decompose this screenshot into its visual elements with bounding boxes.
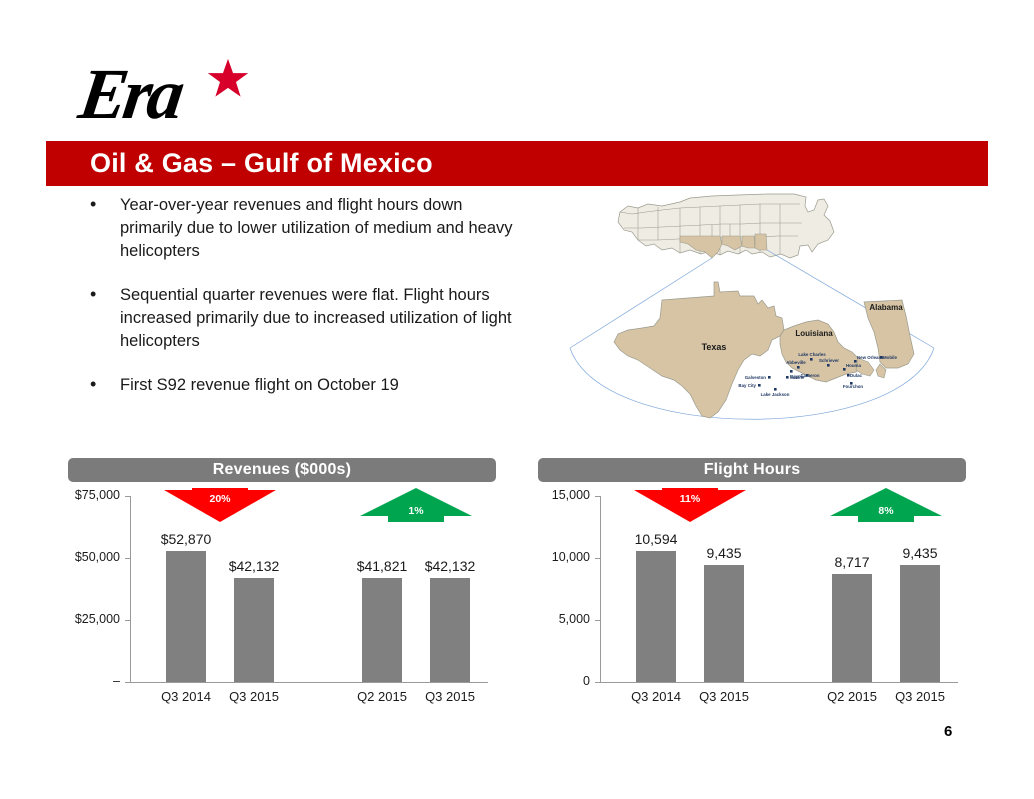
y-axis-tick [125, 496, 130, 497]
map-label-lake-jackson: Lake Jackson [761, 392, 790, 397]
bar [832, 574, 872, 682]
x-axis-line [130, 682, 488, 683]
map-label-bay-city: Bay City [738, 383, 756, 388]
y-axis-tick [595, 496, 600, 497]
bar-value-label: $42,132 [405, 558, 495, 574]
x-axis-label: Q3 2015 [209, 689, 299, 704]
y-axis-label: $25,000 [68, 612, 120, 626]
page-title: Oil & Gas – Gulf of Mexico [90, 148, 433, 179]
list-item: • Year-over-year revenues and flight hou… [84, 194, 524, 263]
chart-revenues: Revenues ($000s) $75,000$50,000$25,000–$… [68, 458, 496, 713]
bullet-text: First S92 revenue flight on October 19 [120, 376, 399, 394]
map-label-schriever: Schriever [819, 358, 839, 363]
bar [636, 551, 676, 682]
bar [704, 565, 744, 682]
logo-wordmark: Era [74, 54, 185, 134]
marker-houma [843, 368, 846, 371]
y-axis-label: 5,000 [538, 612, 590, 626]
map-label-new-orleans: New Orleans [857, 355, 884, 360]
map-label-fourchon: Fourchon [843, 384, 864, 389]
list-item: • First S92 revenue flight on October 19 [84, 374, 524, 397]
chart-header-revenues: Revenues ($000s) [68, 458, 496, 482]
bar [430, 578, 470, 682]
marker-lake-jackson [774, 388, 777, 391]
bullet-dot-icon: • [90, 193, 96, 216]
gulf-coast-detail: Texas Louisiana Alabama B [614, 282, 914, 418]
marker-schriever [827, 364, 830, 367]
marker-bay-city [758, 384, 761, 387]
arrow-up-icon: 1% [360, 488, 472, 522]
bar-value-label: 9,435 [875, 545, 965, 561]
bar [166, 551, 206, 682]
arrow-down-icon: 11% [634, 488, 746, 522]
y-axis-line [130, 496, 131, 682]
y-axis-label: – [68, 674, 120, 688]
map-label-alabama: Alabama [869, 303, 903, 312]
map-label-lake-charles: Lake Charles [798, 352, 826, 357]
bar [900, 565, 940, 682]
y-axis-label: 10,000 [538, 550, 590, 564]
plot-area-revenues: $75,000$50,000$25,000–$52,870Q3 2014$42,… [68, 486, 496, 713]
gulf-of-mexico-map: Texas Louisiana Alabama B [562, 188, 962, 450]
y-axis-line [600, 496, 601, 682]
marker-bayou [790, 370, 793, 373]
y-axis-label: $50,000 [68, 550, 120, 564]
map-label-louisiana: Louisiana [795, 329, 833, 338]
bar-value-label: $42,132 [209, 558, 299, 574]
map-label-galveston: Galveston [745, 375, 767, 380]
y-axis-tick [125, 558, 130, 559]
bar [234, 578, 274, 682]
page-number: 6 [944, 723, 952, 740]
chart-header-flight-hours: Flight Hours [538, 458, 966, 482]
y-axis-tick [125, 620, 130, 621]
y-axis-tick [595, 620, 600, 621]
era-logo: Era [80, 52, 280, 132]
y-axis-label: 0 [538, 674, 590, 688]
bullet-dot-icon: • [90, 373, 96, 396]
marker-galveston [768, 376, 771, 379]
bar-value-label: $52,870 [141, 531, 231, 547]
x-axis-label: Q3 2015 [875, 689, 965, 704]
x-axis-line [600, 682, 958, 683]
bullet-list: • Year-over-year revenues and flight hou… [84, 194, 524, 418]
bullet-text: Year-over-year revenues and flight hours… [120, 196, 513, 260]
marker-abbeville [797, 366, 800, 369]
bar [362, 578, 402, 682]
slide-canvas: Era Oil & Gas – Gulf of Mexico • Year-ov… [0, 0, 1034, 799]
chart-title: Flight Hours [538, 458, 966, 482]
bar-value-label: 9,435 [679, 545, 769, 561]
plot-area-flight-hours: 15,00010,0005,000010,594Q3 20149,435Q3 2… [538, 486, 966, 713]
list-item: • Sequential quarter revenues were flat.… [84, 284, 524, 353]
arrow-down-icon: 20% [164, 488, 276, 522]
x-axis-label: Q3 2015 [405, 689, 495, 704]
map-label-mobile: Mobile [883, 355, 897, 360]
map-label-dulac: Dulac [850, 373, 863, 378]
y-axis-tick [595, 682, 600, 683]
us-inset-map [618, 194, 834, 258]
arrow-up-icon: 8% [830, 488, 942, 522]
chart-flight-hours: Flight Hours 15,00010,0005,000010,594Q3 … [538, 458, 966, 713]
inset-mississippi [742, 236, 755, 248]
y-axis-tick [125, 682, 130, 683]
map-label-houma: Houma [846, 363, 861, 368]
texas-shape [614, 282, 784, 418]
x-axis-label: Q3 2015 [679, 689, 769, 704]
marker-lake-charles [810, 358, 813, 361]
y-axis-tick [595, 558, 600, 559]
map-label-cameron: Cameron [800, 373, 819, 378]
chart-title: Revenues ($000s) [68, 458, 496, 482]
inset-alabama [755, 234, 767, 250]
y-axis-label: 15,000 [538, 488, 590, 502]
map-label-texas: Texas [702, 342, 727, 352]
bullet-dot-icon: • [90, 283, 96, 306]
map-label-abbeville: Abbeville [786, 360, 806, 365]
bullet-text: Sequential quarter revenues were flat. F… [120, 286, 512, 350]
slide-title-banner: Oil & Gas – Gulf of Mexico [46, 141, 988, 186]
y-axis-label: $75,000 [68, 488, 120, 502]
star-icon [207, 58, 249, 100]
marker-sabine [786, 376, 789, 379]
